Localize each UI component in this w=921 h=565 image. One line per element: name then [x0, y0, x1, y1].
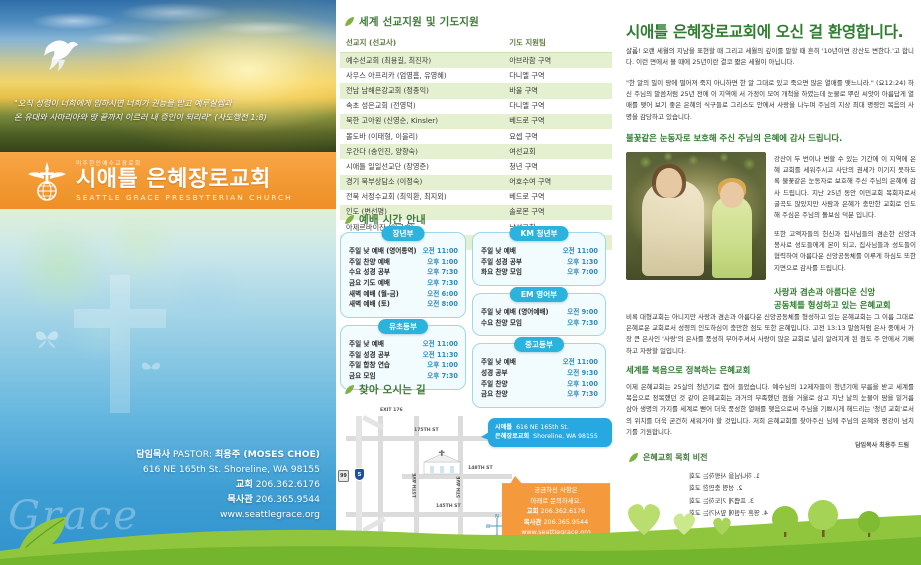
worship-service-label: 주일 성경 공부 [349, 350, 390, 361]
vision-item: 2. 성령 충만한 교회 [689, 482, 909, 494]
mission-team-cell: 베드로 구역 [503, 114, 612, 129]
worship-group-title: 중고등부 [514, 337, 564, 352]
vision-section-title: 은혜교회 목회 비전 [643, 452, 707, 463]
inquiry-parsonage-phone: 목사관 206.365.9544 [510, 517, 602, 528]
mission-row: 속초 성은교회 (전영덕)다니엘 구역 [340, 99, 612, 114]
mission-col-field: 선교지 (선교사) [340, 34, 503, 53]
worship-service-label: 수요 성경 공부 [349, 267, 390, 278]
road-175th [346, 436, 498, 441]
logo-name-korean: 시애틀 은혜장로교회 [76, 168, 293, 191]
cross-watermark-icon [60, 269, 180, 419]
worship-service-row: 주일 성경 공부오후 1:30 [481, 257, 598, 268]
worship-schedule-section: 예배 시간 안내 장년부주일 낮 예배 (영어통역)오전 11:00주일 찬양 … [340, 212, 612, 408]
callout-addr-1: 616 NE 165th St. [516, 423, 569, 432]
mission-table-header-row: 선교지 (선교사) 기도 지원팀 [340, 34, 612, 53]
mission-team-cell: 어호수여 구역 [503, 175, 612, 190]
worship-service-time: 오후 7:00 [562, 267, 598, 278]
mission-row: 경기 북부상담소 (이정숙)어호수여 구역 [340, 175, 612, 190]
welcome-title: 시애틀 은혜장로교회에 오신 걸 환영합니다. [626, 20, 916, 42]
worship-service-row: 주일 성경 공부오전 11:30 [349, 350, 458, 361]
location-map[interactable]: EXIT 176 175TH ST 148TH ST 145TH ST EXIT… [340, 402, 612, 552]
inquiry-website[interactable]: www.seattlegrace.org [510, 527, 602, 538]
worship-group-title: 장년부 [382, 226, 425, 241]
worship-service-label: 주일 낮 예배 (영어예배) [481, 307, 549, 318]
callout-line-1: 시애틀 616 NE 165th St. [495, 423, 605, 432]
worship-service-time: 오후 1:30 [562, 257, 598, 268]
welcome-intro-paragraph: 샬롬! 오랜 세월의 지남을 표현할 때 그리고 세월의 깊이를 말할 때 흔히… [626, 46, 914, 68]
worship-group-box: KM 청년부주일 낮 예배오전 11:00주일 성경 공부오후 1:30화요 찬… [472, 232, 606, 286]
dove-icon [38, 28, 84, 74]
worship-service-row: 주일 낮 예배오전 11:00 [481, 246, 598, 257]
worship-service-label: 성경 공부 [481, 368, 508, 379]
pastor-name: 최용주 (MOSES CHOE) [215, 449, 320, 460]
worship-service-time: 오후 7:30 [422, 267, 458, 278]
mission-section-title: 세계 선교지원 및 기도지원 [359, 14, 479, 29]
map-label-145th: 145TH ST [436, 504, 461, 509]
mission-row: 예수선교회 (최용길, 최진자)아브라함 구역 [340, 53, 612, 69]
right-panel: 시애틀 은혜장로교회에 오신 걸 환영합니다. 샬롬! 오랜 세월의 지남을 표… [616, 0, 921, 565]
mission-field-cell: 전북 서정수교회 (최익환, 최지외) [340, 190, 503, 205]
directions-section: 찾아 오시는 길 EXIT 176 175TH ST 148TH ST 145T… [340, 382, 612, 552]
mission-row: 사우스 아프리카 (엄영흠, 유영혜)다니엘 구역 [340, 68, 612, 83]
sunrise-field-photo: "오직 성령이 너희에게 임하시면 너희가 권능을 받고 예루살렘과 온 유대와… [0, 0, 336, 152]
mission-col-team: 기도 지원팀 [503, 34, 612, 53]
mission-row: 우간다 (송인진, 양향숙)여선교회 [340, 144, 612, 159]
worship-group-box: 장년부주일 낮 예배 (영어통역)오전 11:00주일 찬양 예배오후 1:00… [340, 232, 466, 318]
mission-team-cell: 청년 구역 [503, 159, 612, 174]
worship-service-row: 주일 낮 예배 (영어통역)오전 11:00 [349, 246, 458, 257]
mission-row: 몰도바 (이태형, 이을리)요셉 구역 [340, 129, 612, 144]
jesus-head [656, 168, 682, 198]
pastor-label-en: PASTOR: [173, 449, 212, 460]
mission-field-cell: 경기 북부상담소 (이정숙) [340, 175, 503, 190]
vision-section-header: 은혜교회 목회 비전 [628, 452, 707, 463]
worship-service-time: 오전 9:00 [562, 307, 598, 318]
headline-community-line-2: 공동체를 형성하고 있는 은혜교회 [774, 299, 916, 312]
mission-row: 전남 남해은강교회 (정종익)바울 구역 [340, 83, 612, 98]
worship-group-title: KM 청년부 [509, 226, 568, 241]
side-paragraph-1: 강산이 두 번이나 변할 수 있는 기간에 이 지역에 은혜 교회를 세워주시고… [774, 154, 916, 221]
inquiry-line-2: 아래로 문의하세요. [510, 496, 602, 507]
worship-service-row: 수요 성경 공부오후 7:30 [349, 267, 458, 278]
map-section-title: 찾아 오시는 길 [359, 382, 426, 397]
mission-team-cell: 여선교회 [503, 144, 612, 159]
worship-service-row: 성경 공부오전 9:30 [481, 368, 598, 379]
svg-text:S: S [495, 534, 498, 538]
mission-team-cell: 바울 구역 [503, 83, 612, 98]
parsonage-phone-label: 목사관 [227, 494, 252, 505]
worship-service-row: 금요 모임오후 7:30 [349, 371, 458, 382]
green-hearts-decoration [622, 497, 752, 537]
logo-text-group: 미주한인예수교장로회 시애틀 은혜장로교회 SEATTLE GRACE PRES… [76, 159, 293, 202]
svg-text:W: W [486, 524, 491, 530]
worship-service-label: 화요 찬양 모임 [481, 267, 522, 278]
map-label-148th: 148TH ST [468, 466, 493, 471]
mission-section-header: 세계 선교지원 및 기도지원 [344, 14, 612, 29]
logo-name-english: SEATTLE GRACE PRESBYTERIAN CHURCH [76, 193, 293, 202]
worship-service-row: 새벽 예배 (월-금)오전 6:00 [349, 289, 458, 300]
worship-service-row: 화요 찬양 모임오후 7:00 [481, 267, 598, 278]
worship-service-time: 오후 7:30 [422, 278, 458, 289]
church-phone-label: 교회 [236, 479, 253, 490]
worship-service-label: 새벽 예배 (월-금) [349, 289, 399, 300]
inquiry-church-phone: 교회 206.362.6176 [510, 506, 602, 517]
mission-field-cell: 전남 남해은강교회 (정종익) [340, 83, 503, 98]
mission-row: 시애틀 일일선교단 (장영준)청년 구역 [340, 159, 612, 174]
callout-line-2: 은혜장로교회 Shoreline, WA 98155 [495, 432, 605, 441]
worship-service-label: 주일 낮 예배 [481, 246, 516, 257]
worship-service-time: 오후 1:00 [422, 257, 458, 268]
mission-team-cell: 아브라함 구역 [503, 53, 612, 69]
map-section-header: 찾아 오시는 길 [344, 382, 612, 397]
body-paragraph-youth-church: 이제 은혜교회는 25살의 청년기로 접어 들었습니다. 예수님의 12제자들이… [626, 382, 914, 438]
worship-service-label: 주일 낮 예배 [481, 357, 516, 368]
worship-service-row: 주일 낮 예배오전 11:00 [349, 339, 458, 350]
worship-service-row: 새벽 예배 (토)오전 8:00 [349, 299, 458, 310]
vision-item: 1. 하나님을 사랑하는 교회 [689, 470, 909, 482]
leaf-bullet-icon [344, 214, 355, 225]
worship-service-row: 주일 낮 예배 (영어예배)오전 9:00 [481, 307, 598, 318]
mission-team-cell: 요셉 구역 [503, 129, 612, 144]
interstate-5-shield: 5 [354, 468, 365, 481]
mission-row: 전북 서정수교회 (최익환, 최지외)베드로 구역 [340, 190, 612, 205]
inquiry-callout: 궁금하신 사항은 아래로 문의하세요. 교회 206.362.6176 목사관 … [502, 476, 610, 548]
worship-group-title: 유초등부 [378, 319, 428, 334]
headline-community-line-1: 사랑과 겸손과 아름다운 신앙 [774, 286, 916, 299]
contact-info-block: 담임목사 PASTOR: 최용주 (MOSES CHOE) 616 NE 165… [70, 448, 320, 523]
worship-service-time: 오전 11:00 [558, 357, 598, 368]
leaf-icon [14, 511, 76, 557]
headline-world-gospel: 세계를 복음으로 정복하는 은혜교회 [626, 364, 914, 377]
verse-line-2: 온 유대와 사마리아와 땅 끝까지 이르러 내 증인이 되리라" (사도행전 1… [14, 110, 326, 124]
map-label-15th-ave: 15TH AVE [413, 473, 418, 498]
leaf-bullet-icon [628, 452, 639, 463]
mission-field-cell: 우간다 (송인진, 양향숙) [340, 144, 503, 159]
svg-text:N: N [495, 514, 499, 520]
worship-service-time: 오전 8:00 [422, 299, 458, 310]
map-label-5th-ave: 5TH AVE [457, 476, 462, 498]
callout-addr-2: Shoreline, WA 98155 [533, 432, 598, 441]
worship-group-title: EM 영어부 [510, 287, 568, 302]
worship-section-title: 예배 시간 안내 [359, 212, 426, 227]
headline-community: 사랑과 겸손과 아름다운 신앙 공동체를 형성하고 있는 은혜교회 [774, 286, 916, 311]
route-99-shield: 99 [338, 470, 349, 482]
side-paragraph-2: 또한 고액자들의 헌신과 집사님들의 겸손한 신앙과 봉사로 성도들에게 본이 … [774, 229, 916, 274]
butterfly-icon [140, 359, 162, 377]
mission-field-cell: 몰도바 (이태형, 이을리) [340, 129, 503, 144]
mission-team-cell: 다니엘 구역 [503, 68, 612, 83]
pastor-signature: 담임목사 최용주 드림 [855, 440, 909, 449]
worship-service-time: 오후 7:30 [422, 371, 458, 382]
trees-decoration [760, 495, 910, 539]
verse-line-1: "오직 성령이 너희에게 임하시면 너희가 권능을 받고 예루살렘과 [14, 96, 326, 110]
worship-service-label: 금요 모임 [349, 371, 376, 382]
road-145th [346, 512, 506, 517]
worship-service-time: 오전 6:00 [422, 289, 458, 300]
mission-field-cell: 북한 고아원 (신영순, Kinsler) [340, 114, 503, 129]
worship-section-header: 예배 시간 안내 [344, 212, 612, 227]
map-label-exit-175: EXIT 175 [382, 536, 405, 541]
mission-row: 북한 고아원 (신영순, Kinsler)베드로 구역 [340, 114, 612, 129]
worship-service-row: 금요 기도 예배오후 7:30 [349, 278, 458, 289]
headline-gratitude: 불꽃같은 눈동자로 보호해 주신 주님의 은혜에 감사 드립니다. [626, 132, 914, 145]
mission-field-cell: 속초 성은교회 (전영덕) [340, 99, 503, 114]
inquiry-line-1: 궁금하신 사항은 [510, 485, 602, 496]
worship-group-box: 유초등부주일 낮 예배오전 11:00주일 성경 공부오전 11:30주일 합창… [340, 325, 466, 390]
brochure-page: "오직 성령이 너희에게 임하시면 너희가 권능을 받고 예루살렘과 온 유대와… [0, 0, 921, 565]
worship-service-label: 주일 합창 연습 [349, 360, 390, 371]
worship-service-time: 오전 11:30 [418, 350, 458, 361]
callout-name-1: 시애틀 [495, 423, 512, 432]
parsonage-phone-value: 206.365.9544 [256, 494, 320, 505]
pastor-label-kr: 담임목사 [136, 449, 170, 460]
church-phone-value: 206.362.6176 [256, 479, 320, 490]
jesus-with-child-photo [626, 152, 766, 280]
side-text-block: 강산이 두 번이나 변할 수 있는 기간에 이 지역에 은혜 교회를 세워주시고… [774, 154, 916, 282]
map-label-175th: 175TH ST [414, 428, 439, 433]
worship-service-label: 주일 성경 공부 [481, 257, 522, 268]
mission-field-cell: 사우스 아프리카 (엄영흠, 유영혜) [340, 68, 503, 83]
callout-name-2: 은혜장로교회 [495, 432, 529, 441]
church-emblem-icon [26, 160, 68, 202]
scripture-verse: "오직 성령이 너희에게 임하시면 너희가 권능을 받고 예루살렘과 온 유대와… [14, 96, 326, 125]
worship-service-row: 주일 합창 연습오후 1:00 [349, 360, 458, 371]
left-panel: "오직 성령이 너희에게 임하시면 너희가 권능을 받고 예루살렘과 온 유대와… [0, 0, 336, 565]
mission-field-cell: 예수선교회 (최용길, 최진자) [340, 53, 503, 69]
worship-service-time: 오전 11:00 [418, 246, 458, 257]
logo-denomination: 미주한인예수교장로회 [76, 159, 293, 167]
worship-service-row: 주일 찬양 예배오후 1:00 [349, 257, 458, 268]
leaf-bullet-icon [344, 384, 355, 395]
body-paragraph-community: 비록 대형교회는 아니지만 사랑과 겸손과 아름다운 신앙공동체를 형성하고 있… [626, 312, 914, 357]
mission-team-cell: 다니엘 구역 [503, 99, 612, 114]
mission-team-cell: 베드로 구역 [503, 190, 612, 205]
parsonage-phone-line: 목사관 206.365.9544 [70, 493, 320, 508]
worship-service-row: 주일 낮 예배오전 11:00 [481, 357, 598, 368]
address-line: 616 NE 165th St. Shoreline, WA 98155 [70, 463, 320, 478]
worship-service-row: 수요 찬양 모임오후 7:30 [481, 318, 598, 329]
church-building-icon [422, 450, 462, 476]
middle-panel: 세계 선교지원 및 기도지원 선교지 (선교사) 기도 지원팀 예수선교회 (최… [336, 0, 616, 565]
scripture-quote-paragraph: "한 알의 밀이 땅에 떨어져 죽지 아니하면 한 알 그대로 있고 죽으면 많… [626, 78, 914, 123]
worship-service-time: 오전 9:30 [562, 368, 598, 379]
church-logo-band: 미주한인예수교장로회 시애틀 은혜장로교회 SEATTLE GRACE PRES… [0, 152, 336, 209]
worship-service-time: 오후 7:30 [562, 318, 598, 329]
worship-service-time: 오전 11:00 [558, 246, 598, 257]
map-label-exit-176: EXIT 176 [380, 408, 403, 413]
butterfly-icon [34, 327, 60, 349]
child-head [720, 182, 744, 208]
worship-service-time: 오후 1:00 [422, 360, 458, 371]
worship-service-label: 주일 낮 예배 (영어통역) [349, 246, 417, 257]
worship-service-label: 금요 기도 예배 [349, 278, 390, 289]
worship-service-label: 수요 찬양 모임 [481, 318, 522, 329]
leaf-bullet-icon [344, 16, 355, 27]
worship-service-time: 오전 11:00 [418, 339, 458, 350]
mission-field-cell: 시애틀 일일선교단 (장영준) [340, 159, 503, 174]
worship-service-label: 주일 낮 예배 [349, 339, 384, 350]
website-link[interactable]: www.seattlegrace.org [70, 508, 320, 523]
pastor-line: 담임목사 PASTOR: 최용주 (MOSES CHOE) [70, 448, 320, 463]
worship-service-label: 주일 찬양 예배 [349, 257, 390, 268]
church-location-callout: 시애틀 616 NE 165th St. 은혜장로교회 Shoreline, W… [488, 418, 612, 447]
worship-group-box: EM 영어부주일 낮 예배 (영어예배)오전 9:00수요 찬양 모임오후 7:… [472, 293, 606, 336]
left-gradient-backdrop: Grace 담임목사 PASTOR: 최용주 (MOSES CHOE) 616 … [0, 209, 336, 565]
church-phone-line: 교회 206.362.6176 [70, 478, 320, 493]
child-figure [712, 196, 752, 278]
worship-service-label: 새벽 예배 (토) [349, 299, 390, 310]
